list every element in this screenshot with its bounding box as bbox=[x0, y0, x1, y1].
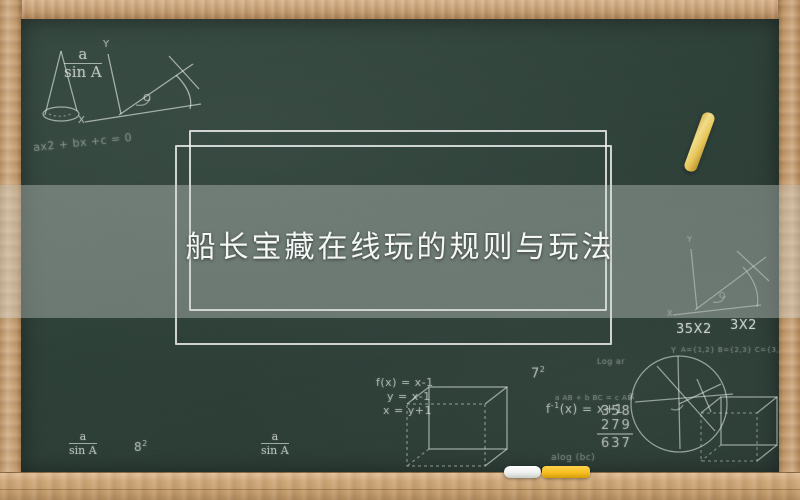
white-chalk-piece-icon bbox=[504, 466, 541, 478]
chalk-ledge bbox=[0, 472, 800, 500]
yellow-chalk-piece-icon bbox=[542, 466, 590, 478]
page-title: 船长宝藏在线玩的规则与玩法 bbox=[0, 222, 800, 266]
screenshot-root: a sin A Y X O ax2 + bx +c = 0 f( bbox=[0, 0, 800, 500]
frame-top-rail bbox=[0, 0, 800, 20]
chalk-angle-label-rightmiddle: O bbox=[719, 291, 726, 300]
ledge-groove bbox=[0, 489, 800, 490]
chalk-axis-label-x-rightmiddle: X bbox=[667, 309, 673, 318]
